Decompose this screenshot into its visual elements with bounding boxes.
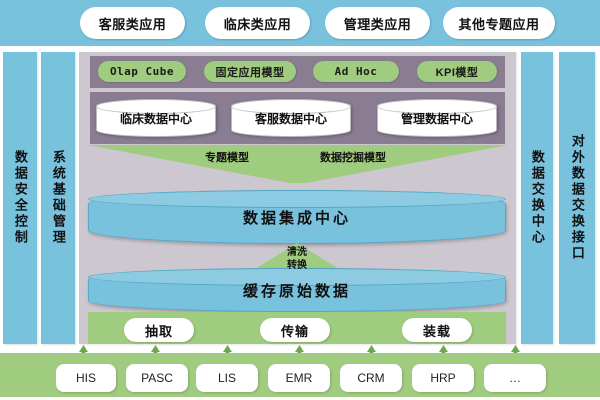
- model-pill-label: 固定应用模型: [216, 64, 285, 80]
- app-box-management[interactable]: 管理类应用: [325, 7, 430, 39]
- model-pill-fixed-application-model[interactable]: 固定应用模型: [204, 61, 296, 82]
- funnel-label-thematic-model: 专题模型: [205, 149, 249, 165]
- data-center-clinical[interactable]: 临床数据中心: [96, 99, 216, 137]
- source-system-more[interactable]: …: [484, 364, 546, 392]
- architecture-diagram: 客服类应用 临床类应用 管理类应用 其他专题应用 数据安全控制 系统基础管理 数…: [0, 0, 600, 400]
- integration-center-label: 数据集成中心: [243, 207, 351, 228]
- sidebar-right-external-exchange-interface[interactable]: 对外数据交换接口: [559, 52, 595, 344]
- funnel-label-data-mining-model: 数据挖掘模型: [320, 149, 386, 165]
- sidebar-right-label: 对外数据交换接口: [570, 134, 584, 262]
- app-box-label: 管理类应用: [344, 14, 412, 33]
- source-system-label: EMR: [286, 371, 313, 385]
- source-system-emr[interactable]: EMR: [268, 364, 330, 392]
- sidebar-left-system-base-management[interactable]: 系统基础管理: [41, 52, 75, 344]
- etl-step-label: 传输: [281, 321, 309, 340]
- transform-triangle-label: 清洗 转换: [258, 247, 336, 272]
- source-system-label: CRM: [357, 371, 384, 385]
- app-box-label: 临床类应用: [224, 14, 292, 33]
- source-system-label: HRP: [430, 371, 455, 385]
- data-center-label: 临床数据中心: [120, 110, 192, 127]
- source-system-label: PASC: [141, 371, 173, 385]
- app-box-clinical[interactable]: 临床类应用: [205, 7, 310, 39]
- data-center-label: 管理数据中心: [401, 110, 473, 127]
- model-pill-label: Olap Cube: [110, 65, 174, 78]
- model-pill-label: KPI模型: [436, 64, 479, 80]
- source-system-label: HIS: [76, 371, 96, 385]
- model-pill-label: Ad Hoc: [335, 65, 378, 78]
- source-system-label: …: [509, 371, 521, 385]
- etl-step-label: 装载: [423, 321, 451, 340]
- etl-step-transmit[interactable]: 传输: [260, 318, 330, 342]
- source-system-label: LIS: [218, 371, 236, 385]
- source-system-his[interactable]: HIS: [56, 364, 116, 392]
- app-box-other-thematic[interactable]: 其他专题应用: [443, 7, 555, 39]
- model-pill-olap-cube[interactable]: Olap Cube: [98, 61, 186, 82]
- app-box-customer-service[interactable]: 客服类应用: [80, 7, 185, 39]
- sidebar-left-label: 数据安全控制: [13, 150, 27, 246]
- data-center-customer-service[interactable]: 客服数据中心: [231, 99, 351, 137]
- source-system-pasc[interactable]: PASC: [126, 364, 188, 392]
- sidebar-left-label: 系统基础管理: [51, 150, 65, 246]
- etl-step-label: 抽取: [145, 321, 173, 340]
- app-box-label: 其他专题应用: [458, 14, 539, 33]
- staging-raw-data-cylinder[interactable]: 缓存原始数据: [88, 268, 506, 312]
- sidebar-left-data-security-control[interactable]: 数据安全控制: [3, 52, 37, 344]
- etl-step-load[interactable]: 装载: [402, 318, 472, 342]
- source-system-lis[interactable]: LIS: [196, 364, 258, 392]
- source-system-hrp[interactable]: HRP: [412, 364, 474, 392]
- sidebar-right-data-exchange-center[interactable]: 数据交换中心: [521, 52, 553, 344]
- source-system-crm[interactable]: CRM: [340, 364, 402, 392]
- etl-step-extract[interactable]: 抽取: [124, 318, 194, 342]
- transform-label-clean: 清洗: [258, 247, 336, 260]
- data-center-management[interactable]: 管理数据中心: [377, 99, 497, 137]
- sidebar-right-label: 数据交换中心: [530, 150, 544, 246]
- staging-raw-data-label: 缓存原始数据: [243, 280, 351, 301]
- model-pill-kpi-model[interactable]: KPI模型: [417, 61, 497, 82]
- integration-center-cylinder[interactable]: 数据集成中心: [88, 190, 506, 244]
- transform-label-convert: 转换: [258, 260, 336, 273]
- model-pill-ad-hoc[interactable]: Ad Hoc: [313, 61, 399, 82]
- app-box-label: 客服类应用: [99, 14, 167, 33]
- data-center-label: 客服数据中心: [255, 110, 327, 127]
